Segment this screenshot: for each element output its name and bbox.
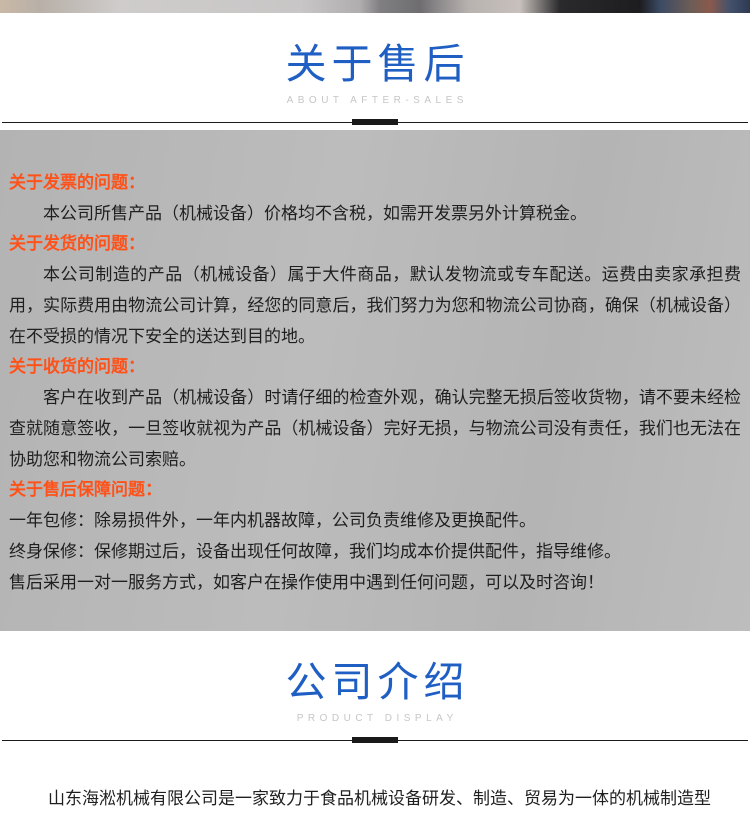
after-sales-content-panel: 关于发票的问题： 本公司所售产品（机械设备）价格均不含税，如需开发票另外计算税金… xyxy=(0,130,750,631)
after-sales-divider xyxy=(0,116,750,130)
header-top-spacer xyxy=(0,13,750,40)
company-intro-divider xyxy=(0,734,750,748)
qa-heading-receiving: 关于收货的问题： xyxy=(9,352,741,382)
company-intro-header: 公司介绍 PRODUCT DISPLAY xyxy=(0,631,750,748)
page-subtitle-company-intro: PRODUCT DISPLAY xyxy=(0,712,750,726)
top-image-strip xyxy=(0,0,750,13)
qa-paragraph-warranty-lifetime: 终身保修：保修期过后，设备出现任何故障，我们均成本价提供配件，指导维修。 xyxy=(9,536,741,567)
qa-heading-invoice: 关于发票的问题： xyxy=(9,168,741,198)
qa-paragraph-shipping: 本公司制造的产品（机械设备）属于大件商品，默认发物流或专车配送。运费由卖家承担费… xyxy=(9,259,741,352)
after-sales-header: 关于售后 ABOUT AFTER-SALES xyxy=(0,13,750,130)
company-intro-body: 山东海淞机械有限公司是一家致力于食品机械设备研发、制造、贸易为一体的机械制造型 xyxy=(0,748,750,814)
qa-heading-shipping: 关于发货的问题： xyxy=(9,229,741,259)
qa-heading-warranty: 关于售后保障问题： xyxy=(9,475,741,505)
divider-center-block xyxy=(352,119,398,125)
qa-paragraph-invoice: 本公司所售产品（机械设备）价格均不含税，如需开发票另外计算税金。 xyxy=(9,198,741,229)
page-subtitle-after-sales: ABOUT AFTER-SALES xyxy=(0,94,750,108)
page-title-after-sales: 关于售后 xyxy=(0,40,750,88)
company-intro-paragraph: 山东海淞机械有限公司是一家致力于食品机械设备研发、制造、贸易为一体的机械制造型 xyxy=(14,784,736,814)
divider-center-block xyxy=(352,737,398,743)
qa-paragraph-warranty-one-year: 一年包修：除易损件外，一年内机器故障，公司负责维修及更换配件。 xyxy=(9,505,741,536)
company-header-top-spacer xyxy=(0,631,750,658)
qa-paragraph-receiving: 客户在收到产品（机械设备）时请仔细的检查外观，确认完整无损后签收货物，请不要未经… xyxy=(9,382,741,475)
page-title-company-intro: 公司介绍 xyxy=(0,658,750,706)
qa-paragraph-warranty-service: 售后采用一对一服务方式，如客户在操作使用中遇到任何问题，可以及时咨询！ xyxy=(9,567,741,598)
